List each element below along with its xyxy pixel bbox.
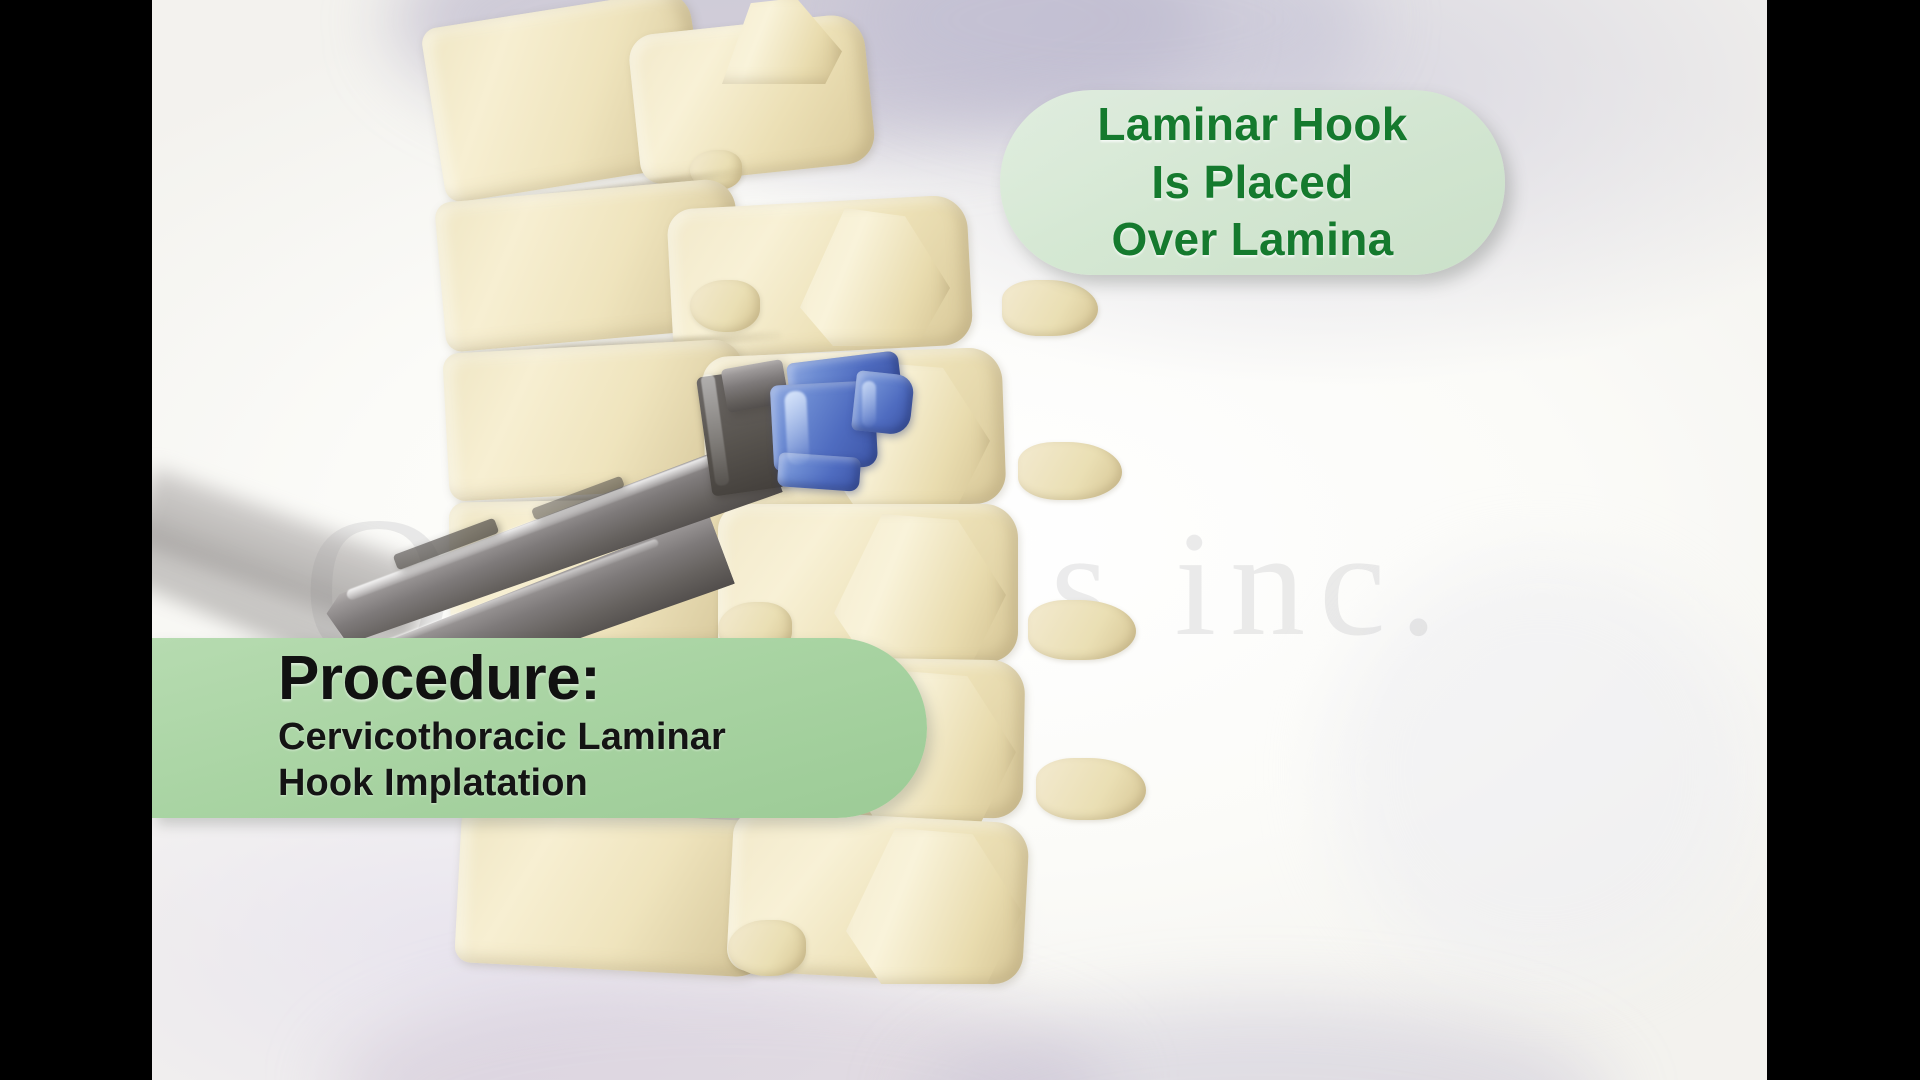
laminar-hook-implant (762, 355, 952, 495)
transverse-process (728, 920, 806, 976)
procedure-banner: Procedure: Cervicothoracic Laminar Hook … (152, 638, 927, 818)
transverse-process (690, 280, 760, 332)
callout-line-2: Is Placed (1151, 154, 1353, 212)
hook-highlight (784, 390, 810, 465)
lateral-mass (1028, 600, 1136, 660)
lateral-mass (1002, 280, 1098, 336)
vertebral-body (454, 806, 774, 978)
callout-laminar-hook: Laminar Hook Is Placed Over Lamina (1000, 90, 1505, 275)
lateral-mass (1036, 758, 1146, 820)
procedure-name-line-1: Cervicothoracic Laminar (278, 714, 927, 760)
hook-highlight (862, 381, 876, 427)
procedure-title: Procedure: (278, 648, 927, 710)
letterbox-bar-right (1767, 0, 1920, 1080)
callout-line-1: Laminar Hook (1097, 96, 1407, 154)
procedure-name-line-2: Hook Implatation (278, 760, 927, 806)
animation-viewport: Oprs inc. (152, 0, 1767, 1080)
video-frame-stage: Oprs inc. (0, 0, 1920, 1080)
hook-saddle (851, 370, 915, 436)
instrument-motion-blur (152, 467, 436, 643)
vertebral-body (449, 497, 758, 652)
callout-line-3: Over Lamina (1112, 211, 1394, 269)
letterbox-bar-left (0, 0, 152, 1080)
lateral-mass (1018, 442, 1122, 500)
spinous-process (722, 0, 842, 84)
background-blob (1332, 560, 1752, 980)
